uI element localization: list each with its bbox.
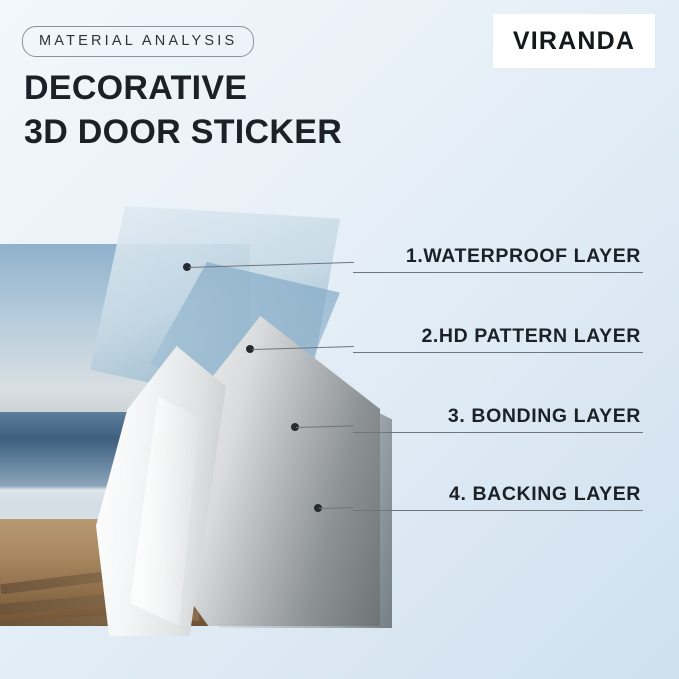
callout-label-backing: 4. BACKING LAYER bbox=[449, 483, 641, 506]
callout-label-hd-pattern: 2.HD PATTERN LAYER bbox=[421, 325, 641, 348]
callout-label-bonding: 3. BONDING LAYER bbox=[448, 405, 641, 428]
callout-label-waterproof: 1.WATERPROOF LAYER bbox=[406, 245, 641, 268]
brand-logo-box: VIRANDA bbox=[493, 14, 655, 68]
brand-name: VIRANDA bbox=[513, 27, 635, 56]
page-title-line2: 3D DOOR STICKER bbox=[24, 110, 342, 154]
sticker-artwork bbox=[0, 196, 420, 626]
product-infographic-poster: MATERIAL ANALYSIS DECORATIVE 3D DOOR STI… bbox=[0, 0, 679, 679]
page-title: DECORATIVE 3D DOOR STICKER bbox=[24, 66, 342, 154]
eyebrow-badge: MATERIAL ANALYSIS bbox=[22, 26, 254, 57]
page-title-line1: DECORATIVE bbox=[24, 69, 247, 107]
